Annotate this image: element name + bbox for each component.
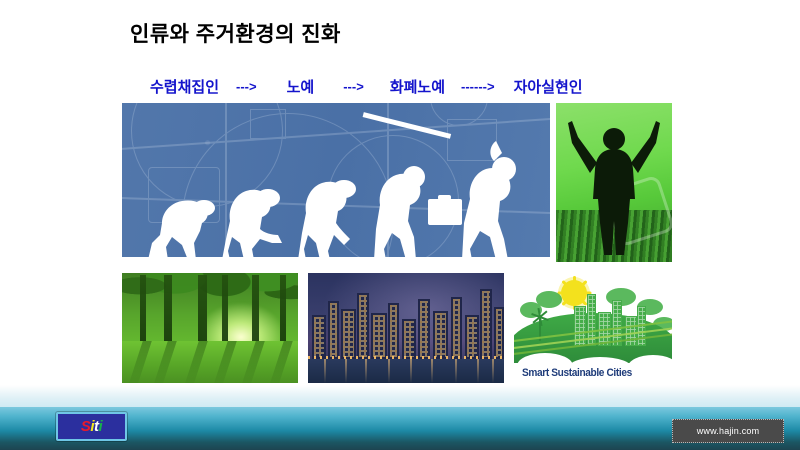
- slide-canvas: 인류와 주거환경의 진화 수렵채집인 ---> 노예 ---> 화폐노예 ---…: [0, 0, 800, 450]
- page-title: 인류와 주거환경의 진화: [130, 18, 341, 48]
- image-smart-sustainable-cities: Smart Sustainable Cities: [514, 273, 672, 383]
- water-reflection: [308, 359, 504, 383]
- chain-term-self-actualized: 자아실현인: [514, 76, 583, 97]
- raised-arms-silhouette-icon: [556, 103, 672, 262]
- logo-letter-s: S: [81, 419, 91, 434]
- photo-row-bottom: Smart Sustainable Cities: [122, 273, 672, 383]
- chain-term-hunter-gatherer: 수렵채집인: [150, 76, 219, 97]
- website-url-box[interactable]: www.hajin.com: [672, 419, 784, 443]
- website-url-text: www.hajin.com: [697, 426, 760, 436]
- photo-row-top: [122, 103, 672, 262]
- image-sunlit-forest: [122, 273, 298, 383]
- sun-icon: [561, 280, 587, 306]
- chain-term-money-slave: 화폐노예: [390, 76, 445, 97]
- chain-arrow-3: ------>: [461, 79, 495, 94]
- evolution-chain: 수렵채집인 ---> 노예 ---> 화폐노예 ------> 자아실현인: [150, 74, 670, 98]
- photo-collage: Smart Sustainable Cities: [122, 103, 672, 383]
- chain-term-slave: 노예: [287, 76, 315, 97]
- chain-arrow-2: --->: [343, 79, 364, 94]
- grass-lawn: [122, 341, 298, 383]
- siti-logo[interactable]: S i t i: [56, 412, 127, 441]
- image-human-evolution: [122, 103, 550, 262]
- footer-fade: [0, 385, 800, 407]
- slide-footer: S i t i www.hajin.com: [0, 385, 800, 450]
- chain-arrow-1: --->: [236, 79, 257, 94]
- image-person-arms-raised: [556, 103, 672, 262]
- image-night-city-skyline: [308, 273, 504, 383]
- evolution-silhouettes-icon: [122, 103, 550, 262]
- logo-letter-i2: i: [99, 419, 103, 434]
- eco-caption: Smart Sustainable Cities: [522, 367, 632, 379]
